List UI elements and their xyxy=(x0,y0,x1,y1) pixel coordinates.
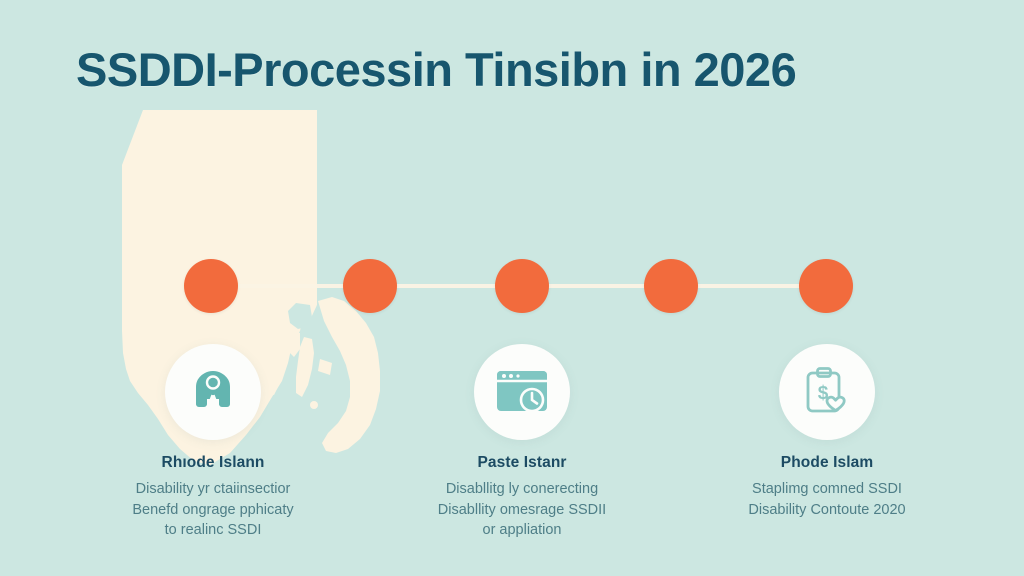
step-title: Rhıode Islann xyxy=(63,454,363,472)
step-description: Staplimg comned SSDIDisability Contoute … xyxy=(677,479,977,520)
timeline-dot-2[interactable] xyxy=(343,259,397,313)
clipboard-dollar-heart-icon-container: $ xyxy=(779,344,875,440)
step-description-line: Disabllity omesrage SSDII xyxy=(396,500,648,521)
step-title: Paste Istanr xyxy=(372,454,672,472)
step-description-line: to realinc SSDI xyxy=(87,520,339,541)
timeline-dot-3[interactable] xyxy=(495,259,549,313)
timeline-dot-1[interactable] xyxy=(184,259,238,313)
step-description: Disabllitg ly conerectingDisabllity omes… xyxy=(372,479,672,541)
person-award-badge-icon xyxy=(186,365,240,419)
infographic-canvas: SSDDI-Processin Tinsibn in 2026 Rhıode I… xyxy=(0,0,1024,576)
person-award-badge-icon-container xyxy=(165,344,261,440)
timeline-dot-4[interactable] xyxy=(644,259,698,313)
step-title: Phode Islam xyxy=(677,454,977,472)
step-card-3[interactable]: $Phode IslamStaplimg comned SSDIDisabili… xyxy=(677,344,977,520)
browser-window-clock-icon xyxy=(494,367,550,417)
step-description: Disability yr ctaiinsectiorBenefd ongrag… xyxy=(63,479,363,541)
clipboard-dollar-heart-icon: $ xyxy=(801,365,853,419)
step-description-line: Benefd ongrage pphicaty xyxy=(87,500,339,521)
timeline-dot-5[interactable] xyxy=(799,259,853,313)
page-title: SSDDI-Processin Tinsibn in 2026 xyxy=(76,44,956,96)
browser-window-clock-icon-container xyxy=(474,344,570,440)
step-description-line: Staplimg comned SSDI xyxy=(701,479,953,500)
step-card-1[interactable]: Rhıode IslannDisability yr ctaiinsectior… xyxy=(63,344,363,541)
step-description-line: Disability yr ctaiinsectior xyxy=(87,479,339,500)
step-description-line: Disabllitg ly conerecting xyxy=(396,479,648,500)
step-description-line: or appliation xyxy=(396,520,648,541)
step-description-line: Disability Contoute 2020 xyxy=(701,500,953,521)
step-card-2[interactable]: Paste IstanrDisabllitg ly conerectingDis… xyxy=(372,344,672,541)
